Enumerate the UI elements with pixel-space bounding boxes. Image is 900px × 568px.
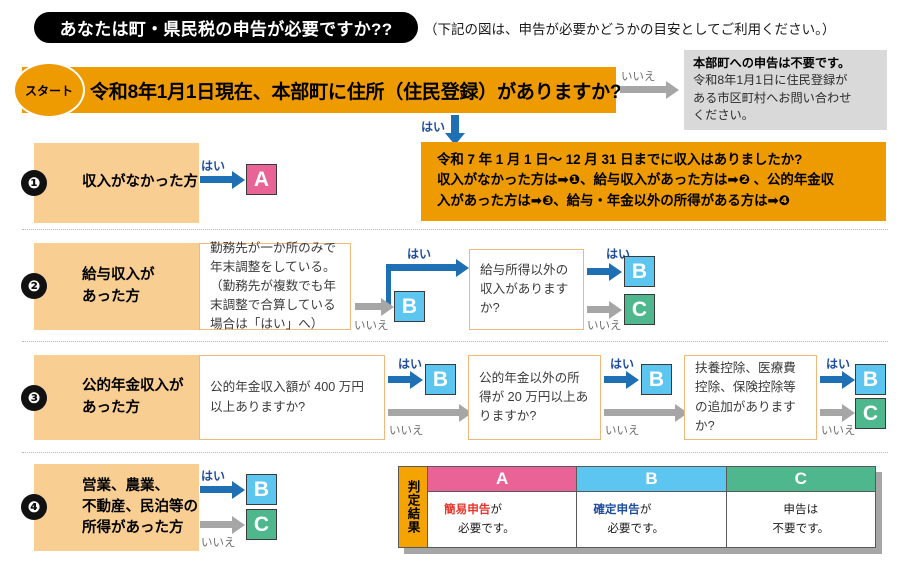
row3-q3-yes-label: はい (826, 355, 850, 372)
row2-q1-no-arrow (355, 303, 381, 310)
row2-q1-no-label: いいえ (354, 317, 389, 333)
result-body-b: 確定申告が 必要です。 (577, 492, 725, 547)
row3-q1-yes-label: はい (398, 355, 422, 372)
row2-q2-no-label: いいえ (587, 317, 622, 333)
row2-category-text: 給与収入が あった方 (82, 265, 155, 307)
row4-category-line-3: 所得があった方 (82, 518, 198, 539)
result-header-a: A (428, 467, 576, 492)
row3-q2-no-arrow (604, 409, 675, 416)
row4-no-label: いいえ (201, 534, 236, 550)
row2-q2-no-result-c: C (624, 294, 655, 325)
row1-yes-label: はい (201, 157, 225, 174)
info-line-4: ください。 (693, 107, 879, 124)
row3-q3-no-result-c: C (855, 398, 886, 429)
page-title: あなたは町・県民税の申告が必要ですか?? (34, 12, 418, 43)
start-no-label: いいえ (621, 68, 656, 84)
row1-yes-arrow (200, 176, 232, 183)
row3-q2-yes-result-b: B (641, 364, 672, 395)
separator-2 (22, 341, 888, 342)
row3-question-2-box: 公的年金以外の所得が 20 万円以上ありますか? (468, 355, 601, 440)
result-table-column-c: C 申告は 不要です。 (727, 466, 876, 548)
row2-category-line-2: あった方 (82, 287, 155, 308)
start-badge: スタート (13, 62, 85, 118)
row2-q1-no-result-b: B (394, 291, 425, 322)
banner-line-1: 令和 7 年 1 月 1 日〜 12 月 31 日までに収入はありましたか? (437, 150, 876, 170)
row2-category-line-1: 給与収入が (82, 265, 155, 286)
row3-category-box: 公的年金収入が あった方 (34, 355, 199, 440)
row3-q3-yes-arrow (820, 376, 842, 383)
row3-q1-yes-arrow (388, 376, 410, 383)
row2-q2-yes-result-b: B (624, 256, 655, 287)
row3-q2-yes-label: はい (610, 355, 634, 372)
row4-no-arrow (200, 521, 232, 528)
row3-category-line-2: あった方 (82, 398, 184, 419)
banner-line-2: 収入がなかった方は➡❶、給与収入があった方は➡❷ 、公的年金収 (437, 170, 876, 190)
result-header-c: C (727, 467, 875, 492)
result-b-line-2: 必要です。 (593, 520, 664, 539)
result-table-side-label: 判定結果 (398, 466, 428, 548)
row3-question-2-text: 公的年金以外の所得が 20 万円以上ありますか? (469, 369, 600, 426)
row4-category-line-1: 営業、農業、 (82, 476, 198, 497)
separator-1 (22, 229, 888, 230)
row2-number-badge: ❷ (21, 273, 47, 299)
result-table-column-a: A 簡易申告が 必要です。 (428, 466, 577, 548)
start-no-arrow (620, 86, 666, 93)
row2-q2-no-arrow (587, 306, 609, 313)
start-question-text: 令和8年1月1日現在、本部町に住所（住民登録）がありますか? (90, 77, 621, 104)
row2-category-box: 給与収入が あった方 (34, 243, 199, 330)
row3-number-badge: ❸ (21, 385, 47, 411)
result-c-line-1: 申告は (783, 501, 818, 520)
row4-yes-arrow (200, 486, 232, 493)
result-b-keyword: 確定申告 (593, 503, 639, 516)
row3-q1-yes-result-b: B (425, 364, 456, 395)
result-body-a: 簡易申告が 必要です。 (428, 492, 576, 547)
row3-question-1-box: 公的年金収入額が 400 万円以上ありますか? (199, 355, 385, 440)
result-a-line-1: 簡易申告が (444, 501, 502, 520)
row4-category-box: 営業、農業、 不動産、民泊等の 所得があった方 (34, 464, 199, 551)
row3-question-3-box: 扶養控除、医療費控除、保険控除等の追加がありますか? (684, 355, 817, 440)
page-subtitle: （下記の図は、申告が必要かどうかの目安としてご利用ください。） (424, 18, 835, 38)
banner-line-3: 入があった方は➡❸、給与・年金以外の所得がある方は➡❹ (437, 191, 876, 211)
row3-q3-no-label: いいえ (821, 422, 856, 438)
row3-q2-yes-arrow (604, 376, 626, 383)
row3-q2-no-label: いいえ (605, 422, 640, 438)
result-c-line-2: 不要です。 (772, 520, 829, 539)
result-table-column-b: B 確定申告が 必要です。 (577, 466, 726, 548)
row3-q1-no-label: いいえ (389, 422, 424, 438)
result-a-tail: が (490, 503, 502, 516)
info-line-3: ある市区町村へお問い合わせ (693, 90, 879, 107)
result-b-line-1: 確定申告が (593, 501, 651, 520)
row3-category-text: 公的年金収入が あった方 (82, 376, 184, 418)
row2-q2-yes-arrow (587, 268, 609, 275)
row2-question-2-box: 給与所得以外の収入がありますか? (469, 249, 584, 330)
result-table: 判定結果 A 簡易申告が 必要です。 B 確定申告が 必要です。 (398, 466, 876, 548)
row3-category-line-1: 公的年金収入が (82, 376, 184, 397)
result-a-line-2: 必要です。 (444, 520, 515, 539)
row2-q1-yes-arrow (386, 264, 456, 271)
row2-question-1-text: 勤務先が一か所のみで年末調整をしている。（勤務先が複数でも年末調整で合算している… (200, 239, 350, 335)
row3-question-3-text: 扶養控除、医療費控除、保険控除等の追加がありますか? (685, 359, 816, 436)
row1-category-text: 収入がなかった方 (82, 172, 198, 193)
row3-q3-no-arrow (820, 409, 842, 416)
row3-question-1-text: 公的年金収入額が 400 万円以上ありますか? (200, 378, 384, 416)
result-a-keyword: 簡易申告 (444, 503, 490, 516)
row3-q1-no-arrow (388, 409, 459, 416)
row1-number-badge: ❶ (21, 170, 47, 196)
row2-question-1-box: 勤務先が一か所のみで年末調整をしている。（勤務先が複数でも年末調整で合算している… (199, 243, 351, 330)
row1-category-box: 収入がなかった方 (34, 143, 199, 223)
row4-category-line-2: 不動産、民泊等の (82, 497, 198, 518)
row2-q1-yes-label: はい (407, 245, 431, 262)
row2-question-2-text: 給与所得以外の収入がありますか? (470, 261, 583, 318)
row4-yes-result-b: B (246, 474, 277, 505)
row4-no-result-c: C (246, 509, 277, 540)
flowchart-page: あなたは町・県民税の申告が必要ですか?? （下記の図は、申告が必要かどうかの目安… (0, 0, 900, 568)
separator-3 (22, 452, 888, 453)
row1-result-a: A (246, 164, 277, 195)
income-period-banner: 令和 7 年 1 月 1 日〜 12 月 31 日までに収入はありましたか? 収… (421, 142, 886, 221)
no-residence-info-box: 本部町への申告は不要です。 令和8年1月1日に住民登録が ある市区町村へお問い合… (684, 50, 887, 130)
result-header-b: B (577, 467, 725, 492)
row4-category-text: 営業、農業、 不動産、民泊等の 所得があった方 (82, 476, 198, 539)
start-yes-arrow (451, 115, 459, 133)
result-b-tail: が (640, 503, 652, 516)
start-question-bar: 令和8年1月1日現在、本部町に住所（住民登録）がありますか? (22, 67, 616, 113)
info-line-1: 本部町への申告は不要です。 (693, 55, 879, 72)
result-body-c: 申告は 不要です。 (727, 492, 875, 547)
row4-number-badge: ❹ (21, 494, 47, 520)
info-line-2: 令和8年1月1日に住民登録が (693, 72, 879, 89)
row3-q3-yes-result-b: B (855, 364, 886, 395)
start-yes-label: はい (421, 118, 445, 135)
row4-yes-label: はい (201, 467, 225, 484)
